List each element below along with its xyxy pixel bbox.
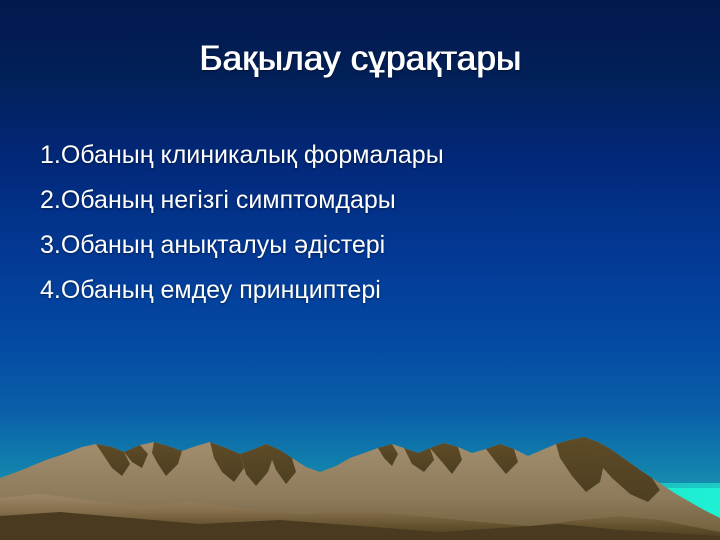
mountain-range-graphic bbox=[0, 420, 720, 540]
list-item: 3.Обаның анықталуы әдістері bbox=[40, 223, 660, 268]
question-list: 1.Обаның клиникалық формалары 2.Обаның н… bbox=[40, 133, 660, 313]
list-item: 1.Обаның клиникалық формалары bbox=[40, 133, 660, 178]
list-item: 4.Обаның емдеу принциптері bbox=[40, 268, 660, 313]
slide-title: Бақылау сұрақтары bbox=[0, 38, 720, 80]
slide-canvas: Бақылау сұрақтары 1.Обаның клиникалық фо… bbox=[0, 0, 720, 540]
list-item: 2.Обаның негізгі симптомдары bbox=[40, 178, 660, 223]
